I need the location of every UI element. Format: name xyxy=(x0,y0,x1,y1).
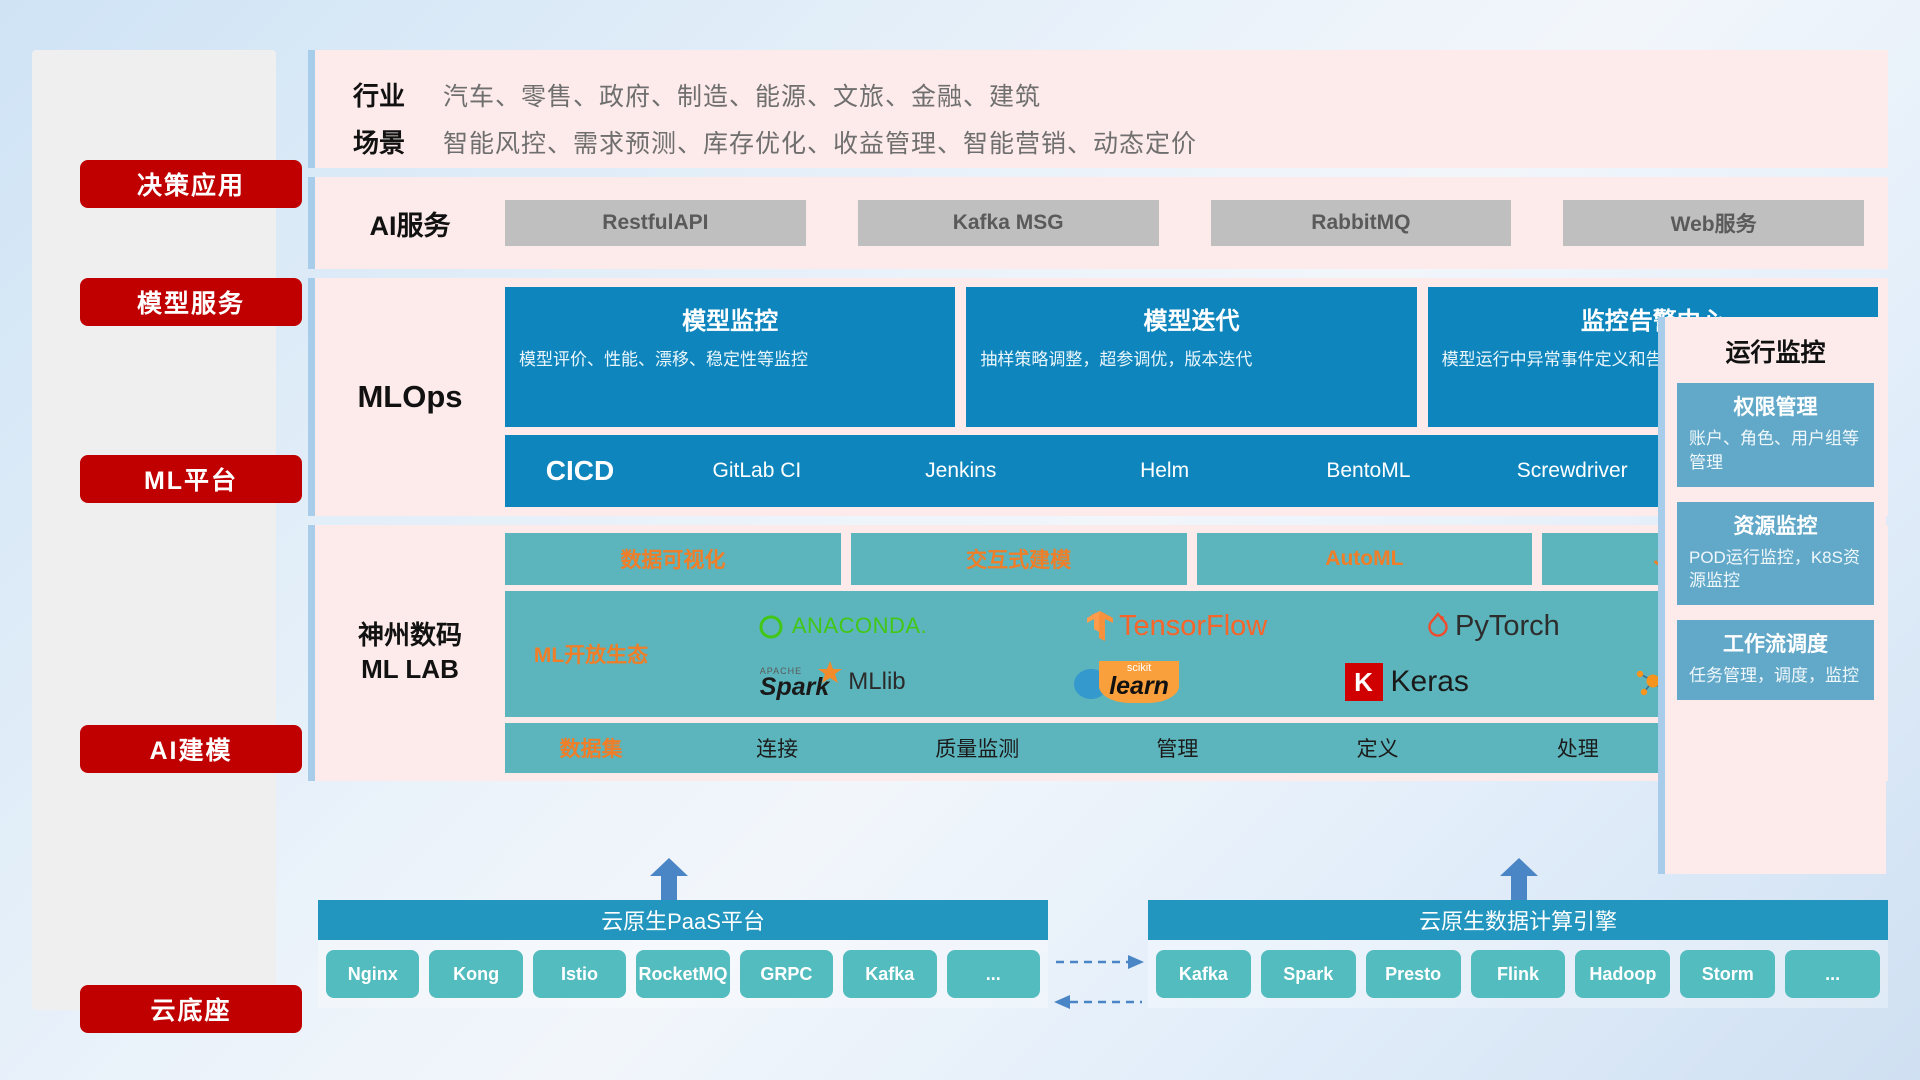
anaconda-label: ANACONDA. xyxy=(792,613,927,639)
rail-badge-label: AI建模 xyxy=(149,731,232,767)
mlops-label: MLOps xyxy=(315,287,505,507)
tab-data-visualization[interactable]: 数据可视化 xyxy=(505,533,841,585)
rail-badge-ai-modeling[interactable]: AI建模 xyxy=(80,725,302,773)
card-desc: 账户、角色、用户组等管理 xyxy=(1689,427,1862,475)
monitor-card-permission[interactable]: 权限管理 账户、角色、用户组等管理 xyxy=(1677,383,1874,487)
runtime-monitor-title: 运行监控 xyxy=(1677,333,1874,369)
cicd-item-helm[interactable]: Helm xyxy=(1063,457,1267,485)
pytorch-logo: PyTorch xyxy=(1425,610,1560,643)
chip-label: Kafka MSG xyxy=(953,211,1064,235)
ai-service-items: RestfulAPI Kafka MSG RabbitMQ Web服务 xyxy=(505,200,1888,246)
scenario-value: 智能风控、需求预测、库存优化、收益管理、智能营销、动态定价 xyxy=(443,124,1197,160)
cloud-chip-hadoop[interactable]: Hadoop xyxy=(1575,950,1670,998)
tensorflow-logo: TensorFlow xyxy=(1085,609,1267,643)
architecture-diagram: 决策应用 模型服务 ML平台 AI建模 云底座 行业 汽车、零售、政府、制造、能… xyxy=(0,0,1920,1080)
cloud-chip-more[interactable]: ... xyxy=(947,950,1040,998)
cloud-compute-section: 云原生数据计算引擎 Kafka Spark Presto Flink Hadoo… xyxy=(1148,900,1888,1030)
anaconda-icon xyxy=(756,611,786,641)
cloud-chip-kafka[interactable]: Kafka xyxy=(843,950,936,998)
cicd-item-jenkins[interactable]: Jenkins xyxy=(859,457,1063,485)
card-desc: 模型评价、性能、漂移、稳定性等监控 xyxy=(519,348,941,373)
ml-ecosystem-label: ML开放生态 xyxy=(505,639,677,669)
dataset-item-connect[interactable]: 连接 xyxy=(677,733,877,763)
cloud-paas-title: 云原生PaaS平台 xyxy=(318,900,1048,940)
cloud-chip-nginx[interactable]: Nginx xyxy=(326,950,419,998)
ml-lab-label: 神州数码 ML LAB xyxy=(315,533,505,773)
anaconda-logo: ANACONDA. xyxy=(756,611,927,641)
ai-service-chip-kafka-msg[interactable]: Kafka MSG xyxy=(858,200,1159,246)
dataset-item-define[interactable]: 定义 xyxy=(1278,733,1478,763)
tensorflow-icon xyxy=(1085,609,1115,643)
cloud-chip-kafka[interactable]: Kafka xyxy=(1156,950,1251,998)
keras-icon: K xyxy=(1345,663,1383,701)
cloud-paas-inner: 云原生PaaS平台 Nginx Kong Istio RocketMQ GRPC… xyxy=(318,900,1048,1008)
chip-label: RabbitMQ xyxy=(1311,211,1410,235)
monitor-card-workflow[interactable]: 工作流调度 任务管理，调度，监控 xyxy=(1677,620,1874,700)
keras-logo: K Keras xyxy=(1345,663,1469,701)
cloud-chip-istio[interactable]: Istio xyxy=(533,950,626,998)
spark-mllib-logo: APACHE Spark MLlib xyxy=(760,666,906,699)
up-arrow-left xyxy=(650,858,688,900)
cloud-chip-more[interactable]: ... xyxy=(1785,950,1880,998)
cloud-chip-kong[interactable]: Kong xyxy=(429,950,522,998)
dataset-item-quality-monitor[interactable]: 质量监测 xyxy=(877,733,1077,763)
mlops-card-model-monitoring[interactable]: 模型监控 模型评价、性能、漂移、稳定性等监控 xyxy=(505,287,955,427)
ml-lab-label-line2: ML LAB xyxy=(358,653,462,687)
left-rail: 决策应用 模型服务 ML平台 AI建模 云底座 xyxy=(32,50,276,1010)
pytorch-icon xyxy=(1425,611,1451,641)
tensorflow-label: TensorFlow xyxy=(1119,610,1267,643)
dataset-label: 数据集 xyxy=(505,733,677,763)
industry-label: 行业 xyxy=(315,76,443,113)
cloud-chip-grpc[interactable]: GRPC xyxy=(740,950,833,998)
cloud-compute-title: 云原生数据计算引擎 xyxy=(1148,900,1888,940)
cloud-compute-chips: Kafka Spark Presto Flink Hadoop Storm ..… xyxy=(1148,940,1888,1008)
cicd-title: CICD xyxy=(505,455,655,487)
rail-badge-decision-app[interactable]: 决策应用 xyxy=(80,160,302,208)
rail-badge-cloud-base[interactable]: 云底座 xyxy=(80,985,302,1033)
cloud-connectors xyxy=(1052,950,1146,1020)
ai-service-chip-rabbitmq[interactable]: RabbitMQ xyxy=(1211,200,1512,246)
card-title: 资源监控 xyxy=(1689,510,1862,540)
ml-lab-band: 神州数码 ML LAB 数据可视化 交互式建模 AutoML JupyterLa… xyxy=(308,525,1888,781)
industry-row: 行业 汽车、零售、政府、制造、能源、文旅、金融、建筑 xyxy=(315,76,1888,113)
dataset-item-process[interactable]: 处理 xyxy=(1478,733,1678,763)
rail-badge-ml-platform[interactable]: ML平台 xyxy=(80,455,302,503)
tab-interactive-modeling[interactable]: 交互式建模 xyxy=(851,533,1187,585)
ai-service-chip-restfulapi[interactable]: RestfulAPI xyxy=(505,200,806,246)
mllib-label: MLlib xyxy=(848,668,905,696)
ai-service-chip-web-service[interactable]: Web服务 xyxy=(1563,200,1864,246)
cloud-paas-chips: Nginx Kong Istio RocketMQ GRPC Kafka ... xyxy=(318,940,1048,1008)
cicd-item-gitlab-ci[interactable]: GitLab CI xyxy=(655,457,859,485)
scenario-label: 场景 xyxy=(315,123,443,160)
tab-automl[interactable]: AutoML xyxy=(1197,533,1533,585)
ml-lab-label-line1: 神州数码 xyxy=(358,619,462,653)
card-desc: 抽样策略调整，超参调优，版本迭代 xyxy=(980,348,1402,373)
cloud-paas-section: 云原生PaaS平台 Nginx Kong Istio RocketMQ GRPC… xyxy=(318,900,1048,1030)
mlops-card-model-iteration[interactable]: 模型迭代 抽样策略调整，超参调优，版本迭代 xyxy=(966,287,1416,427)
cloud-chip-presto[interactable]: Presto xyxy=(1366,950,1461,998)
card-title: 工作流调度 xyxy=(1689,628,1862,658)
card-title: 权限管理 xyxy=(1689,391,1862,421)
card-title: 模型监控 xyxy=(519,301,941,336)
main-column: 行业 汽车、零售、政府、制造、能源、文旅、金融、建筑 场景 智能风控、需求预测、… xyxy=(308,50,1888,790)
keras-label: Keras xyxy=(1391,665,1469,699)
cloud-chip-flink[interactable]: Flink xyxy=(1471,950,1566,998)
learn-text: learn xyxy=(1109,674,1169,699)
monitor-card-resource[interactable]: 资源监控 POD运行监控，K8S资源监控 xyxy=(1677,502,1874,606)
rail-badge-model-service[interactable]: 模型服务 xyxy=(80,278,302,326)
cloud-chip-spark[interactable]: Spark xyxy=(1261,950,1356,998)
pytorch-label: PyTorch xyxy=(1455,610,1560,643)
cloud-compute-inner: 云原生数据计算引擎 Kafka Spark Presto Flink Hadoo… xyxy=(1148,900,1888,1008)
rail-badge-label: ML平台 xyxy=(144,461,238,497)
rail-badge-label: 云底座 xyxy=(150,991,231,1027)
card-title: 模型迭代 xyxy=(980,301,1402,336)
chip-label: Web服务 xyxy=(1671,208,1757,238)
chip-label: RestfulAPI xyxy=(602,211,708,235)
ai-service-label: AI服务 xyxy=(315,204,505,243)
industry-scenario-band: 行业 汽车、零售、政府、制造、能源、文旅、金融、建筑 场景 智能风控、需求预测、… xyxy=(308,50,1888,168)
scenario-row: 场景 智能风控、需求预测、库存优化、收益管理、智能营销、动态定价 xyxy=(315,123,1888,160)
scikit-learn-badge: scikit learn xyxy=(1099,661,1179,703)
ai-service-band: AI服务 RestfulAPI Kafka MSG RabbitMQ Web服务 xyxy=(308,177,1888,269)
cloud-chip-rocketmq[interactable]: RocketMQ xyxy=(636,950,729,998)
card-desc: 任务管理，调度，监控 xyxy=(1689,664,1862,688)
cicd-item-screwdriver[interactable]: Screwdriver xyxy=(1470,457,1674,485)
runtime-monitor-panel: 运行监控 权限管理 账户、角色、用户组等管理 资源监控 POD运行监控，K8S资… xyxy=(1658,317,1886,874)
up-arrow-right xyxy=(1500,858,1538,900)
spark-star-icon xyxy=(817,660,843,686)
mlops-band: MLOps 模型监控 模型评价、性能、漂移、稳定性等监控 模型迭代 抽样策略调整… xyxy=(308,278,1888,516)
industry-value: 汽车、零售、政府、制造、能源、文旅、金融、建筑 xyxy=(443,77,1041,113)
cloud-chip-storm[interactable]: Storm xyxy=(1680,950,1775,998)
card-desc: POD运行监控，K8S资源监控 xyxy=(1689,546,1862,594)
rail-badge-label: 决策应用 xyxy=(137,166,245,202)
scikit-learn-logo: scikit learn xyxy=(1071,661,1179,703)
rail-badge-label: 模型服务 xyxy=(137,284,245,320)
cicd-item-bentoml[interactable]: BentoML xyxy=(1266,457,1470,485)
dataset-item-manage[interactable]: 管理 xyxy=(1077,733,1277,763)
